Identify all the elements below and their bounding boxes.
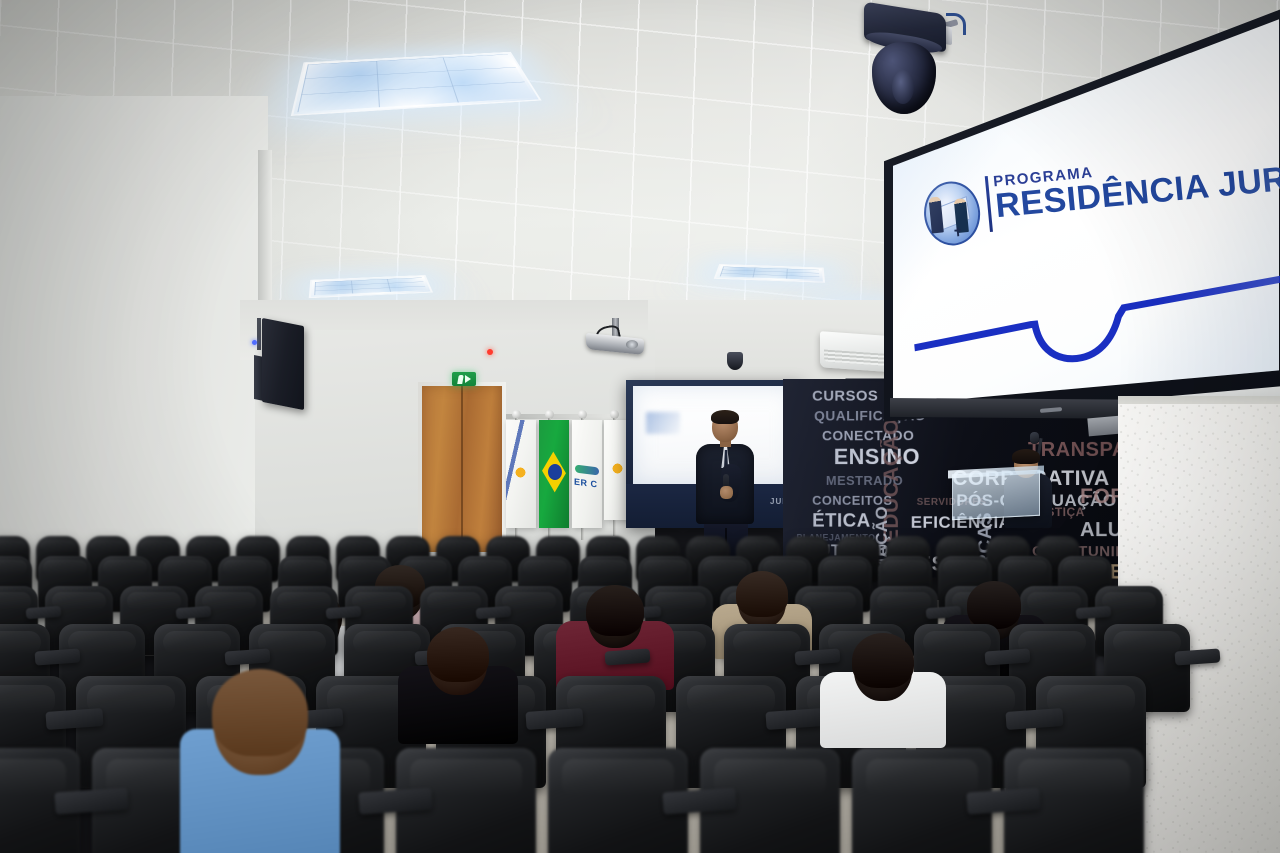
chair-tablet-arm (526, 708, 584, 730)
flag-rail (506, 414, 616, 419)
chair-tablet-arm (46, 708, 104, 730)
flag-brazil (539, 420, 569, 528)
projected-slide-content (646, 412, 680, 434)
door-center-split (461, 386, 463, 552)
attendee-hair (736, 571, 788, 617)
ceiling-sensor-dome (727, 352, 743, 370)
attendee-hair (212, 669, 308, 756)
flag-tocantins (506, 420, 536, 528)
word-cloud-term: CURSOS (812, 389, 878, 404)
podium-microphone (1030, 432, 1039, 444)
attendee-lace-dress (398, 630, 518, 740)
attendee-white-shirt (820, 636, 946, 744)
flag-institution-text: ER C (574, 477, 598, 490)
flag-institution: ER C (572, 420, 602, 528)
ptz-dome-camera (862, 8, 958, 116)
speaker-led-icon (252, 340, 257, 345)
word-cloud-term: ÉTICA (812, 512, 871, 531)
logo-divider (985, 176, 993, 232)
word-cloud-term: MESTRADO (826, 474, 903, 487)
attendee-foreground-long-hair (180, 672, 340, 852)
residencia-juridica-emblem: ✝ (921, 179, 983, 248)
attendee-hair (427, 627, 489, 682)
chair-tablet-arm (1006, 708, 1064, 730)
wall-speaker (262, 318, 304, 410)
attendee-hair (586, 585, 644, 636)
chair-tablet-arm (766, 708, 824, 730)
word-cloud-term: ENSINO (834, 446, 920, 468)
fire-alarm-led-icon (487, 349, 493, 355)
slide-title: RESIDÊNCIA JURÍDICA (994, 151, 1280, 226)
slide-content: ✝ PROGRAMA RESIDÊNCIA JURÍDICA (900, 94, 1280, 389)
speaker-mount (257, 318, 261, 350)
projector-lens-icon (626, 340, 638, 349)
word-cloud-term: CONECTADO (822, 428, 914, 442)
presenter-hand (720, 486, 733, 499)
auditorium-scene: ER C JUDI CURSOSQUALIFICAÇÃOCONECTADOENS… (0, 0, 1280, 853)
attendee-hair (852, 633, 914, 688)
attendee-maroon-shirt (556, 588, 674, 686)
presenter-hair (711, 410, 739, 424)
emergency-exit-sign (452, 372, 476, 386)
word-cloud-term: EDUCAÇÃO (881, 418, 902, 543)
camera-lens-icon (892, 70, 914, 104)
word-cloud-term: CONCEITOS (812, 494, 892, 507)
attendee-hair (967, 581, 1021, 629)
moderator-hair (1012, 449, 1040, 464)
ceiling-projector (586, 318, 648, 360)
